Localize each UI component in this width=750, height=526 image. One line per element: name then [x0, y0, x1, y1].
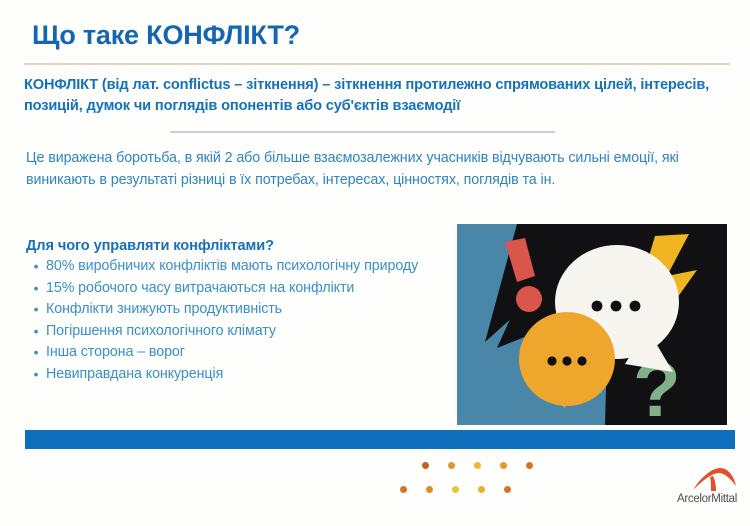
arcelormittal-logo-text: ArcelorMittal — [668, 493, 746, 505]
list-item: •Інша сторона – ворог — [26, 342, 446, 364]
bullet-marker-icon: • — [26, 364, 46, 386]
decorative-dot — [400, 486, 407, 493]
description-paragraph: Це виражена боротьба, в якій 2 або більш… — [26, 148, 726, 191]
arcelormittal-logo: ArcelorMittal — [668, 466, 746, 516]
definition-text: КОНФЛІКТ (від лат. conflictus – зіткненн… — [24, 75, 730, 117]
footer-accent-bar — [25, 430, 735, 449]
list-item-label: Невиправдана конкуренція — [46, 364, 446, 386]
illustration-graphic: ? — [457, 224, 727, 425]
bullet-marker-icon: • — [26, 299, 46, 321]
decorative-dot — [504, 486, 511, 493]
bullet-list-section: Для чого управляти конфліктами? •80% вир… — [26, 238, 446, 385]
list-item: •Невиправдана конкуренція — [26, 364, 446, 386]
page-title: Що таке КОНФЛІКТ? — [32, 20, 300, 51]
section-divider — [170, 131, 555, 133]
decorative-dot — [526, 462, 533, 469]
title-divider — [24, 63, 730, 65]
decorative-dot — [422, 462, 429, 469]
list-item: •Конфлікти знижують продуктивність — [26, 299, 446, 321]
bullet-marker-icon: • — [26, 278, 46, 300]
bullet-list-heading: Для чого управляти конфліктами? — [26, 238, 446, 254]
list-item: •15% робочого часу витрачаються на конфл… — [26, 278, 446, 300]
decorative-dot — [452, 486, 459, 493]
decorative-dot — [500, 462, 507, 469]
decorative-dot — [448, 462, 455, 469]
list-item-label: Інша сторона – ворог — [46, 342, 446, 364]
arcelormittal-mark-icon — [690, 466, 738, 492]
list-item-label: Погіршення психологічного клімату — [46, 321, 446, 343]
list-item: •80% виробничих конфліктів мають психоло… — [26, 256, 446, 278]
bullet-list: •80% виробничих конфліктів мають психоло… — [26, 256, 446, 385]
bullet-marker-icon: • — [26, 321, 46, 343]
presentation-slide: Що таке КОНФЛІКТ? КОНФЛІКТ (від лат. con… — [0, 0, 750, 526]
decorative-dot — [474, 462, 481, 469]
list-item-label: 15% робочого часу витрачаються на конфлі… — [46, 278, 446, 300]
bullet-marker-icon: • — [26, 342, 46, 364]
bullet-marker-icon: • — [26, 256, 46, 278]
decorative-dot — [426, 486, 433, 493]
list-item: •Погіршення психологічного клімату — [26, 321, 446, 343]
decorative-dot — [478, 486, 485, 493]
list-item-label: Конфлікти знижують продуктивність — [46, 299, 446, 321]
list-item-label: 80% виробничих конфліктів мають психолог… — [46, 256, 446, 278]
footer-dots-decoration — [400, 462, 580, 507]
conflict-speech-bubbles-illustration: ? — [457, 224, 727, 425]
